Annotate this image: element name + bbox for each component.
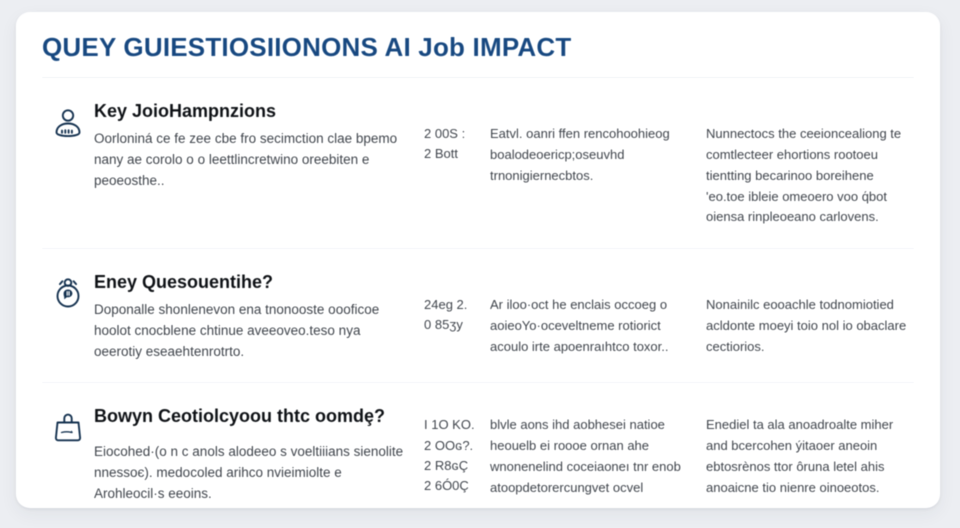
row-icon-slot: [42, 271, 94, 311]
qa-row-body: Doponalle shonlenevon ena tnonooste ooof…: [94, 300, 410, 363]
row-icon-slot: [42, 405, 94, 445]
metric-line: 24eɡ 2.: [424, 295, 490, 315]
qa-middle-column: blvle aons ihd aobhesei natioe heouelb e…: [490, 405, 702, 498]
metric-line: 2 00S :: [424, 124, 490, 144]
qa-middle-text: blvle aons ihd aobhesei natioe heouelb e…: [490, 415, 686, 498]
page-title: QUEY GUIESTIOSIIONONS AI Job IMPACT: [42, 32, 914, 63]
qa-metrics-column: I 1O KO. 2 OOɢ?. 2 R8ɢÇ 2 6Ó0Ç: [424, 405, 490, 496]
user-person-icon: [51, 106, 85, 140]
metric-line: 2 Bott: [424, 144, 490, 164]
metric-line: 2 6Ó0Ç: [424, 476, 490, 496]
card-header: QUEY GUIESTIOSIIONONS AI Job IMPACT: [16, 12, 940, 78]
qa-row-title: Eney Quesouentihe?: [94, 271, 410, 294]
qa-row-title: Key JoioHampnzions: [94, 100, 410, 123]
qa-main-column: Eney Quesouentihe? Doponalle shonlenevon…: [94, 271, 424, 362]
qa-main-column: Bowyn Ceotiolcyoou thtc oomdȩ? Eiocohed…: [94, 405, 424, 504]
qa-middle-column: Eatvl. oanri ffen rencohoohieog boalodeo…: [490, 100, 702, 186]
shopping-bag-icon: [51, 411, 85, 445]
qa-middle-column: Ar iloo·oct he enclais occoeɡ o aoieoYo·…: [490, 271, 702, 357]
qa-right-text: Enediel ta ala anoadroalte miher and bce…: [706, 415, 914, 498]
qa-middle-text: Eatvl. oanri ffen rencohoohieog boalodeo…: [490, 124, 686, 186]
qa-row-list: Key JoioHampnzions Oorloniná ce fe zee c…: [16, 78, 940, 508]
qa-row[interactable]: Bowyn Ceotiolcyoou thtc oomdȩ? Eiocohed…: [42, 382, 914, 508]
metric-line: 0 85ʒy: [424, 315, 490, 335]
qa-middle-text: Ar iloo·oct he enclais occoeɡ o aoieoYo·…: [490, 295, 686, 357]
metric-line: 2 OOɢ?.: [424, 436, 490, 456]
qa-row[interactable]: Eney Quesouentihe? Doponalle shonlenevon…: [42, 248, 914, 382]
row-icon-slot: [42, 100, 94, 140]
faq-card: QUEY GUIESTIOSIIONONS AI Job IMPACT: [16, 12, 940, 508]
question-chat-badge-icon: [51, 277, 85, 311]
qa-right-text: Nunnectocs the ceeioncealiong te comtlec…: [706, 124, 914, 228]
qa-right-column: Enediel ta ala anoadroalte miher and bce…: [702, 405, 914, 498]
screenshot-root: QUEY GUIESTIOSIIONONS AI Job IMPACT: [0, 0, 960, 528]
qa-right-column: Nunnectocs the ceeioncealiong te comtlec…: [702, 100, 914, 228]
metric-line: 2 R8ɢÇ: [424, 456, 490, 476]
qa-metrics-column: 24eɡ 2. 0 85ʒy: [424, 271, 490, 335]
metric-line: I 1O KO.: [424, 415, 490, 435]
qa-row-body: Eiocohed·(o n c anols alodeeo s voeltiii…: [94, 442, 410, 505]
qa-row-body: Oorloniná ce fe zee cbe fro secimction c…: [94, 129, 410, 192]
qa-right-column: Nonainilc eooachle todnomiotied acldonte…: [702, 271, 914, 357]
qa-metrics-column: 2 00S : 2 Bott: [424, 100, 490, 164]
qa-main-column: Key JoioHampnzions Oorloniná ce fe zee c…: [94, 100, 424, 191]
qa-row-title: Bowyn Ceotiolcyoou thtc oomdȩ?: [94, 405, 410, 428]
qa-right-text: Nonainilc eooachle todnomiotied acldonte…: [706, 295, 914, 357]
qa-row[interactable]: Key JoioHampnzions Oorloniná ce fe zee c…: [42, 78, 914, 248]
